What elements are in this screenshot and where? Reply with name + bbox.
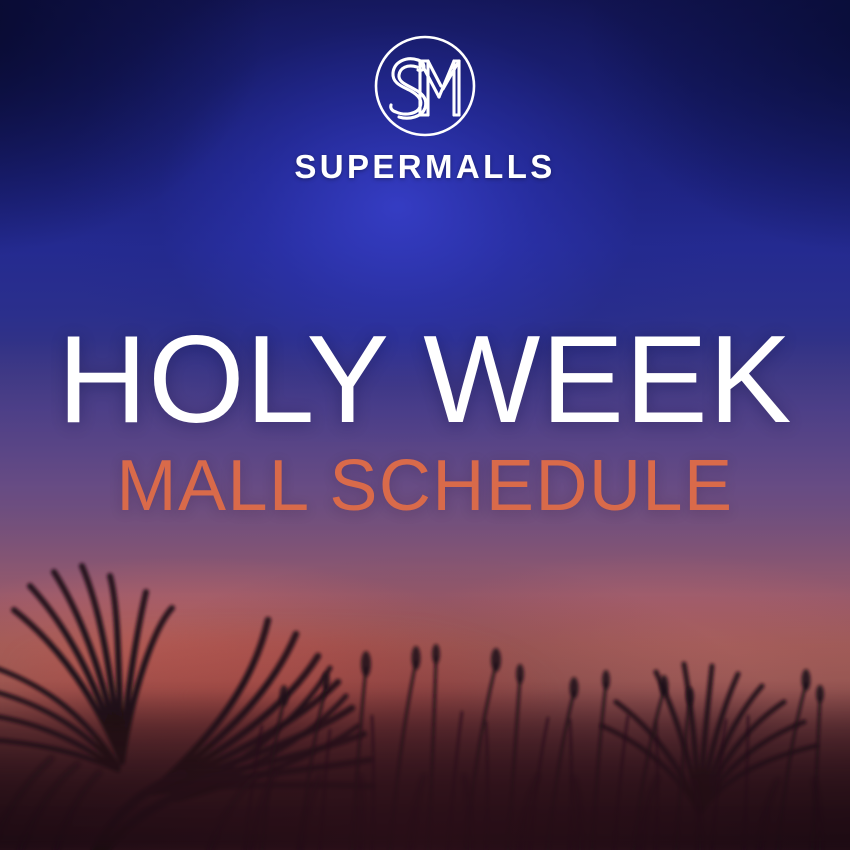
brand-logo-block: SUPERMALLS [0,34,850,183]
sky-bottom-shadow [0,595,850,850]
page-title: HOLY WEEK [0,318,850,442]
brand-wordmark: SUPERMALLS [0,150,850,183]
headline-block: HOLY WEEK MALL SCHEDULE [0,318,850,522]
page-subtitle: MALL SCHEDULE [0,450,850,522]
sm-monogram-circle-icon [373,34,477,138]
holy-week-poster: SUPERMALLS HOLY WEEK MALL SCHEDULE [0,0,850,850]
